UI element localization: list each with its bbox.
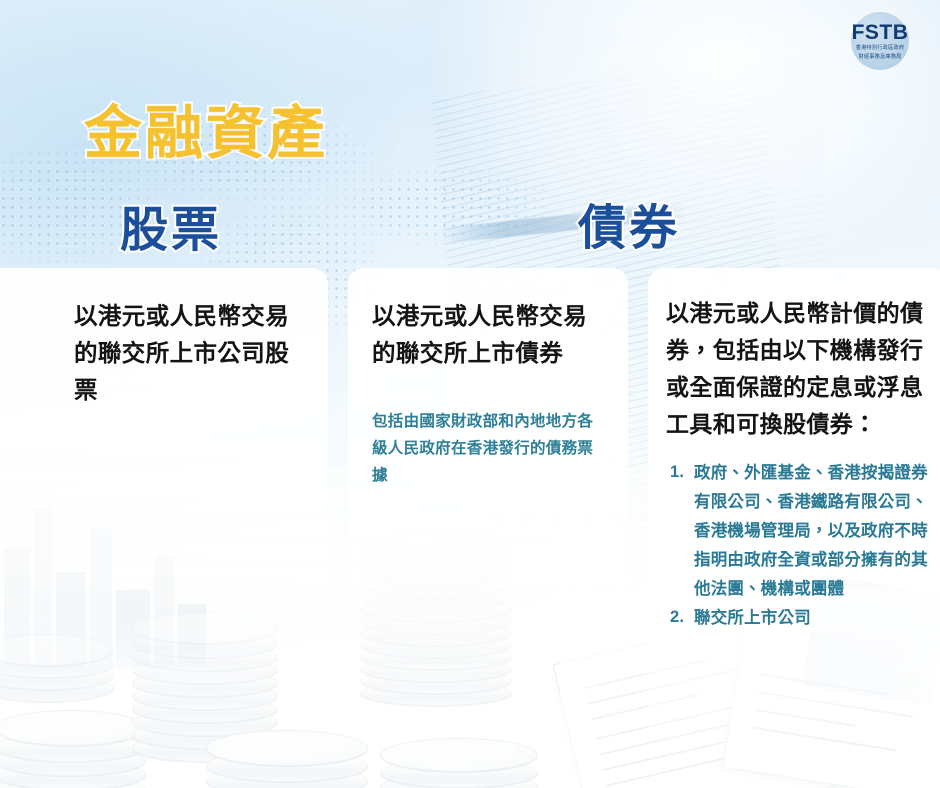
card-bonds-heading: 以港元或人民幣計價的債券，包括由以下機構發行或全面保證的定息或浮息工具和可換股債… [666,296,934,444]
card-exchange-bonds-note: 包括由國家財政部和內地地方各級人民政府在香港發行的債務票據 [372,408,606,489]
logo-acronym: FSTB [852,22,909,43]
logo-chinese-line-2: 財經事務及庫務局 [852,54,909,61]
card-bonds-list: 政府、外匯基金、香港按揭證券有限公司、香港鐵路有限公司、香港機場管理局，以及政府… [666,458,934,632]
section-title-bonds: 債券 [578,188,680,258]
logo-chinese-line-1: 香港特別行政區政府 [852,45,909,52]
section-title-stocks: 股票 [120,190,222,260]
card-stocks: 以港元或人民幣交易的聯交所上市公司股票 [0,268,328,688]
page-title: 金融資產 [84,86,328,170]
card-bonds: 以港元或人民幣計價的債券，包括由以下機構發行或全面保證的定息或浮息工具和可換股債… [648,268,940,768]
card-bonds-list-item: 聯交所上市公司 [666,603,934,632]
card-stocks-heading: 以港元或人民幣交易的聯交所上市公司股票 [74,298,310,409]
card-exchange-bonds-heading: 以港元或人民幣交易的聯交所上市債券 [372,298,606,372]
fstb-logo: FSTB 香港特別行政區政府 財經事務及庫務局 [838,12,922,70]
card-exchange-bonds: 以港元或人民幣交易的聯交所上市債券 包括由國家財政部和內地地方各級人民政府在香港… [348,268,628,688]
slide-canvas: FSTB 香港特別行政區政府 財經事務及庫務局 金融資產 股票 債券 以港元或人… [0,0,940,788]
card-bonds-list-item: 政府、外匯基金、香港按揭證券有限公司、香港鐵路有限公司、香港機場管理局，以及政府… [666,458,934,603]
